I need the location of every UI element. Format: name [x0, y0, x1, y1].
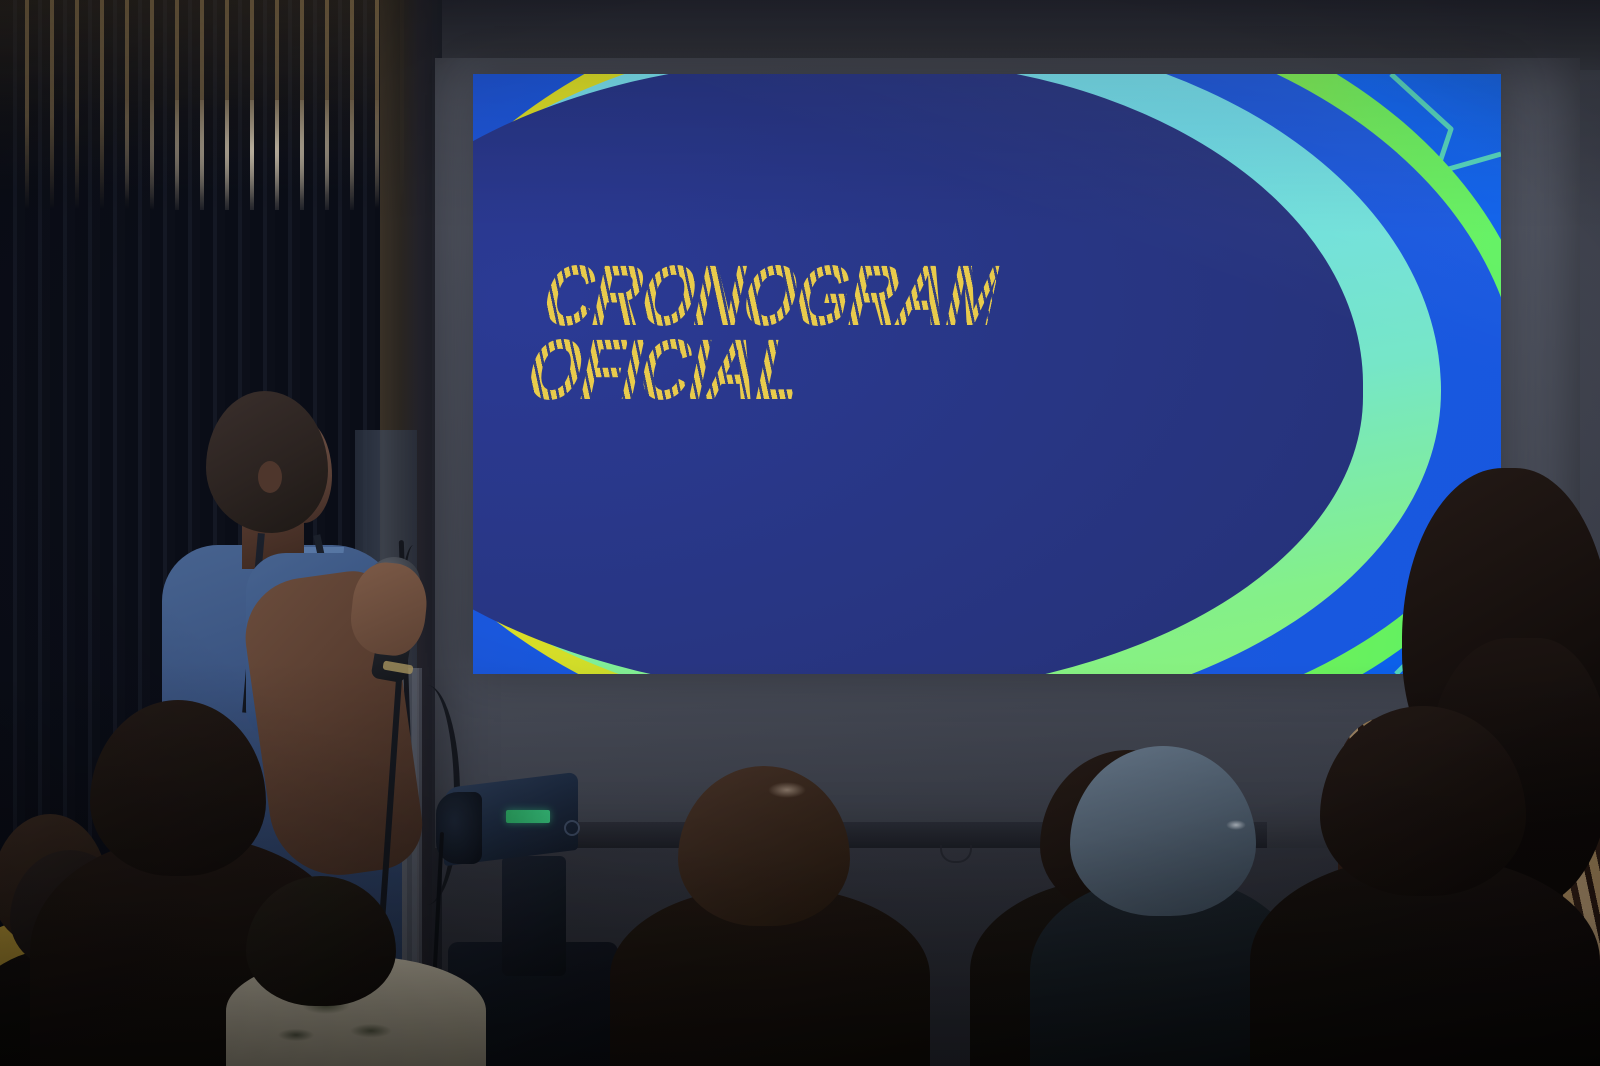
- audience-member-right: [1250, 736, 1580, 1066]
- beanie-hat: [1070, 746, 1256, 916]
- presentation-photo-scene: CRONOGRAMA OFICIAL: [0, 0, 1600, 1066]
- led-indicator-icon: [506, 810, 550, 823]
- audience-head: [90, 700, 266, 876]
- audience-member-center: [610, 806, 910, 1066]
- presenter-ear: [258, 461, 282, 493]
- beanie-highlight: [1226, 820, 1246, 830]
- slide-title: CRONOGRAMA OFICIAL: [521, 260, 1112, 408]
- head-highlight: [768, 782, 806, 798]
- projector-stem: [502, 856, 566, 976]
- audience-member-floral: [206, 886, 486, 1066]
- audience-head: [246, 876, 396, 1006]
- blind-warm-glow: [0, 0, 432, 190]
- slide-title-line-2: OFICIAL: [521, 334, 985, 408]
- projector-power-icon: [564, 820, 580, 836]
